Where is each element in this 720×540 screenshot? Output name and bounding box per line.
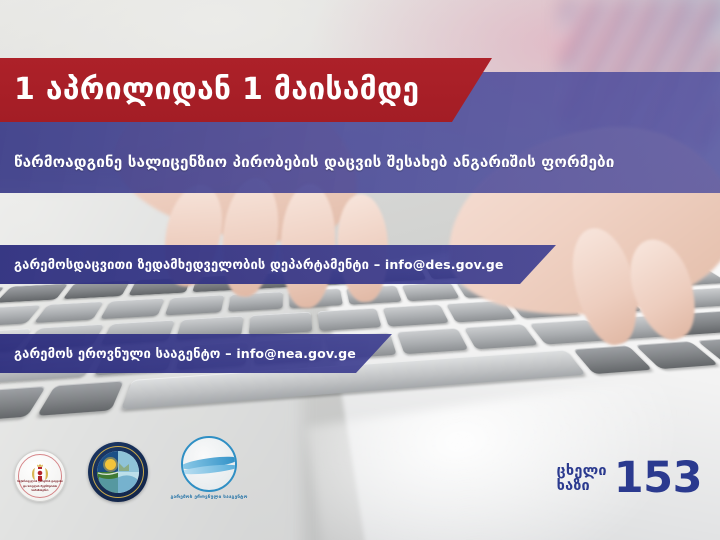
emblem-details-icon [97,451,139,493]
logo-strip: საქართველოს გარემოს დაცვისა და სოფლის მე… [14,436,248,502]
date-banner-text: 1 აპრილიდან 1 მაისამდე [0,75,419,105]
contact-email-link[interactable]: info@nea.gov.ge [236,346,356,361]
emblem-disc [88,442,148,502]
hotline-number: 153 [614,460,702,498]
hotline-block: ცხელი ხაზი 153 [557,460,702,498]
nea-logo-caption: გარემოს ეროვნული სააგენტო [170,495,248,502]
contact-band-nea: გარემოს ეროვნული სააგენტო – info@nea.gov… [0,334,392,373]
contact-band-des: გარემოსდაცვითი ზედამხედველობის დეპარტამე… [0,245,556,284]
national-environmental-agency-logo: გარემოს ეროვნული სააგენტო [170,436,248,502]
contact-email-link[interactable]: info@des.gov.ge [385,257,504,272]
hotline-label: ცხელი ხაზი [557,464,607,494]
government-coat-of-arms-logo: საქართველოს გარემოს დაცვისა და სოფლის მე… [14,450,66,502]
environmental-supervision-emblem [88,442,148,502]
contact-dash: – [220,347,236,362]
hotline-label-line1: ცხელი [557,464,607,479]
contact-line: გარემოს ეროვნული სააგენტო – info@nea.gov… [0,346,356,362]
crest-caption: საქართველოს გარემოს დაცვისა და სოფლის მე… [15,479,65,493]
nea-circle-icon [181,436,237,492]
contact-dash: – [369,258,385,273]
hotline-label-line2: ხაზი [557,479,607,494]
crest-disc: საქართველოს გარემოს დაცვისა და სოფლის მე… [14,450,66,502]
headline-text: წარმოადგინე სალიცენზიო პირობების დაცვის … [0,153,615,193]
contact-org-name: გარემოს ეროვნული სააგენტო [14,347,220,362]
date-banner: 1 აპრილიდან 1 მაისამდე [0,58,492,122]
emblem-shield [97,451,139,493]
contact-line: გარემოსდაცვითი ზედამხედველობის დეპარტამე… [0,257,503,273]
contact-org-name: გარემოსდაცვითი ზედამხედველობის დეპარტამე… [14,258,369,273]
